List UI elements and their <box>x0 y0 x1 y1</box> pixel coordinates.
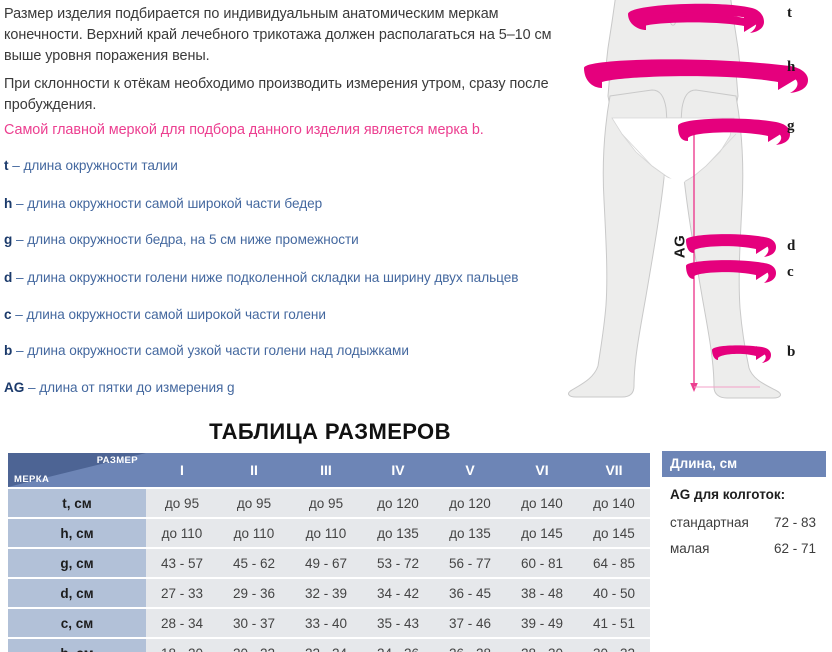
table-row: d, см 27 - 33 29 - 36 32 - 39 34 - 42 36… <box>8 579 650 607</box>
size-table-head: РАЗМЕР МЕРКА I II III IV V VI VII <box>8 453 650 487</box>
column-header-6: VI <box>506 453 578 487</box>
anatomical-measurement-diagram: AG t h g d c b <box>560 0 832 408</box>
length-panel-body: AG для колготок: стандартная 72 - 83 мал… <box>662 477 826 562</box>
size-table-body: t, см до 95 до 95 до 95 до 120 до 120 до… <box>8 489 650 652</box>
diagram-label-t: t <box>787 5 792 22</box>
legend-key-d: d <box>4 270 12 285</box>
table-row: b, см 18 - 20 20 - 22 22 - 24 24 - 26 26… <box>8 639 650 652</box>
length-panel-header: Длина, см <box>662 451 826 477</box>
cell-b-4: 24 - 26 <box>362 639 434 652</box>
legend-item-b: b – длина окружности самой узкой части г… <box>4 342 574 360</box>
table-row: h, см до 110 до 110 до 110 до 135 до 135… <box>8 519 650 547</box>
ag-vertical-label: AG <box>671 235 688 259</box>
cell-t-1: до 95 <box>146 489 218 517</box>
legend-key-c: c <box>4 307 12 322</box>
row-label-d: d, см <box>8 579 146 607</box>
legend-text-c: – длина окружности самой широкой части г… <box>15 307 326 322</box>
row-label-h: h, см <box>8 519 146 547</box>
table-corner-header: РАЗМЕР МЕРКА <box>8 453 146 487</box>
cell-d-7: 40 - 50 <box>578 579 650 607</box>
legend-key-g: g <box>4 232 12 247</box>
diagram-label-d: d <box>787 238 795 255</box>
diagram-label-c: c <box>787 264 794 281</box>
column-header-4: IV <box>362 453 434 487</box>
cell-b-1: 18 - 20 <box>146 639 218 652</box>
length-row-small: малая 62 - 71 <box>662 536 826 562</box>
legend-text-d: – длина окружности голени ниже подколенн… <box>16 270 518 285</box>
length-row-standard-value: 72 - 83 <box>774 513 816 533</box>
length-panel-subtitle: AG для колготок: <box>662 483 826 510</box>
cell-c-5: 37 - 46 <box>434 609 506 637</box>
cell-d-3: 32 - 39 <box>290 579 362 607</box>
cell-d-1: 27 - 33 <box>146 579 218 607</box>
cell-g-4: 53 - 72 <box>362 549 434 577</box>
cell-d-5: 36 - 45 <box>434 579 506 607</box>
cell-c-6: 39 - 49 <box>506 609 578 637</box>
length-panel: Длина, см AG для колготок: стандартная 7… <box>662 451 826 562</box>
legend-text-h: – длина окружности самой широкой части б… <box>16 196 322 211</box>
column-header-7: VII <box>578 453 650 487</box>
cell-h-4: до 135 <box>362 519 434 547</box>
column-header-3: III <box>290 453 362 487</box>
row-label-c: c, см <box>8 609 146 637</box>
cell-c-2: 30 - 37 <box>218 609 290 637</box>
size-table: РАЗМЕР МЕРКА I II III IV V VI VII t, см … <box>8 451 650 652</box>
cell-h-7: до 145 <box>578 519 650 547</box>
legend-item-c: c – длина окружности самой широкой части… <box>4 306 574 324</box>
cell-t-3: до 95 <box>290 489 362 517</box>
corner-merka-label: МЕРКА <box>14 474 49 485</box>
cell-g-3: 49 - 67 <box>290 549 362 577</box>
table-row: c, см 28 - 34 30 - 37 33 - 40 35 - 43 37… <box>8 609 650 637</box>
intro-paragraph-2: При склонности к отёкам необходимо произ… <box>4 74 570 116</box>
row-label-b: b, см <box>8 639 146 652</box>
legend-item-d: d – длина окружности голени ниже подколе… <box>4 269 574 287</box>
corner-size-label: РАЗМЕР <box>97 455 138 466</box>
cell-h-3: до 110 <box>290 519 362 547</box>
ag-label-text: AG <box>671 235 688 259</box>
cell-h-5: до 135 <box>434 519 506 547</box>
table-row: g, см 43 - 57 45 - 62 49 - 67 53 - 72 56… <box>8 549 650 577</box>
cell-g-6: 60 - 81 <box>506 549 578 577</box>
page-title: ТАБЛИЦА РАЗМЕРОВ <box>0 419 660 445</box>
legend-text-g: – длина окружности бедра, на 5 см ниже п… <box>16 232 359 247</box>
legend-item-t: t – длина окружности талии <box>4 157 574 175</box>
top-section: Размер изделия подбирается по индивидуал… <box>0 0 832 408</box>
diagram-label-b: b <box>787 344 795 361</box>
cell-b-2: 20 - 22 <box>218 639 290 652</box>
cell-g-1: 43 - 57 <box>146 549 218 577</box>
cell-t-2: до 95 <box>218 489 290 517</box>
legend-key-h: h <box>4 196 12 211</box>
cell-t-6: до 140 <box>506 489 578 517</box>
diagram-label-h: h <box>787 59 795 76</box>
cell-d-2: 29 - 36 <box>218 579 290 607</box>
length-row-standard: стандартная 72 - 83 <box>662 510 826 536</box>
cell-g-5: 56 - 77 <box>434 549 506 577</box>
cell-c-1: 28 - 34 <box>146 609 218 637</box>
cell-g-7: 64 - 85 <box>578 549 650 577</box>
legend-item-h: h – длина окружности самой широкой части… <box>4 195 574 213</box>
cell-b-5: 26 - 28 <box>434 639 506 652</box>
highlight-note: Самой главной меркой для подбора данного… <box>4 120 570 141</box>
diagram-label-g: g <box>787 118 795 135</box>
row-label-t: t, см <box>8 489 146 517</box>
cell-c-4: 35 - 43 <box>362 609 434 637</box>
cell-h-2: до 110 <box>218 519 290 547</box>
cell-c-3: 33 - 40 <box>290 609 362 637</box>
length-row-standard-name: стандартная <box>670 513 749 533</box>
column-header-1: I <box>146 453 218 487</box>
cell-t-7: до 140 <box>578 489 650 517</box>
legend-text-b: – длина окружности самой узкой части гол… <box>16 343 409 358</box>
cell-b-7: 30 - 32 <box>578 639 650 652</box>
cell-d-4: 34 - 42 <box>362 579 434 607</box>
legend-item-ag: AG – длина от пятки до измерения g <box>4 379 574 397</box>
cell-h-1: до 110 <box>146 519 218 547</box>
cell-c-7: 41 - 51 <box>578 609 650 637</box>
cell-b-6: 28 - 30 <box>506 639 578 652</box>
cell-t-5: до 120 <box>434 489 506 517</box>
cell-h-6: до 145 <box>506 519 578 547</box>
instructions-column: Размер изделия подбирается по индивидуал… <box>4 0 570 408</box>
length-row-small-value: 62 - 71 <box>774 539 816 559</box>
legend-text-t: – длина окружности талии <box>12 158 178 173</box>
legend-text-ag: – длина от пятки до измерения g <box>28 380 235 395</box>
length-row-small-name: малая <box>670 539 710 559</box>
column-header-5: V <box>434 453 506 487</box>
legend-key-t: t <box>4 158 8 173</box>
row-label-g: g, см <box>8 549 146 577</box>
table-row: t, см до 95 до 95 до 95 до 120 до 120 до… <box>8 489 650 517</box>
cell-g-2: 45 - 62 <box>218 549 290 577</box>
cell-b-3: 22 - 24 <box>290 639 362 652</box>
legend-item-g: g – длина окружности бедра, на 5 см ниже… <box>4 231 574 249</box>
cell-d-6: 38 - 48 <box>506 579 578 607</box>
size-table-header-row: РАЗМЕР МЕРКА I II III IV V VI VII <box>8 453 650 487</box>
column-header-2: II <box>218 453 290 487</box>
intro-paragraph-1: Размер изделия подбирается по индивидуал… <box>4 4 570 67</box>
legend-key-b: b <box>4 343 12 358</box>
size-guide-page: Размер изделия подбирается по индивидуал… <box>0 0 832 652</box>
cell-t-4: до 120 <box>362 489 434 517</box>
legend-key-ag: AG <box>4 380 24 395</box>
